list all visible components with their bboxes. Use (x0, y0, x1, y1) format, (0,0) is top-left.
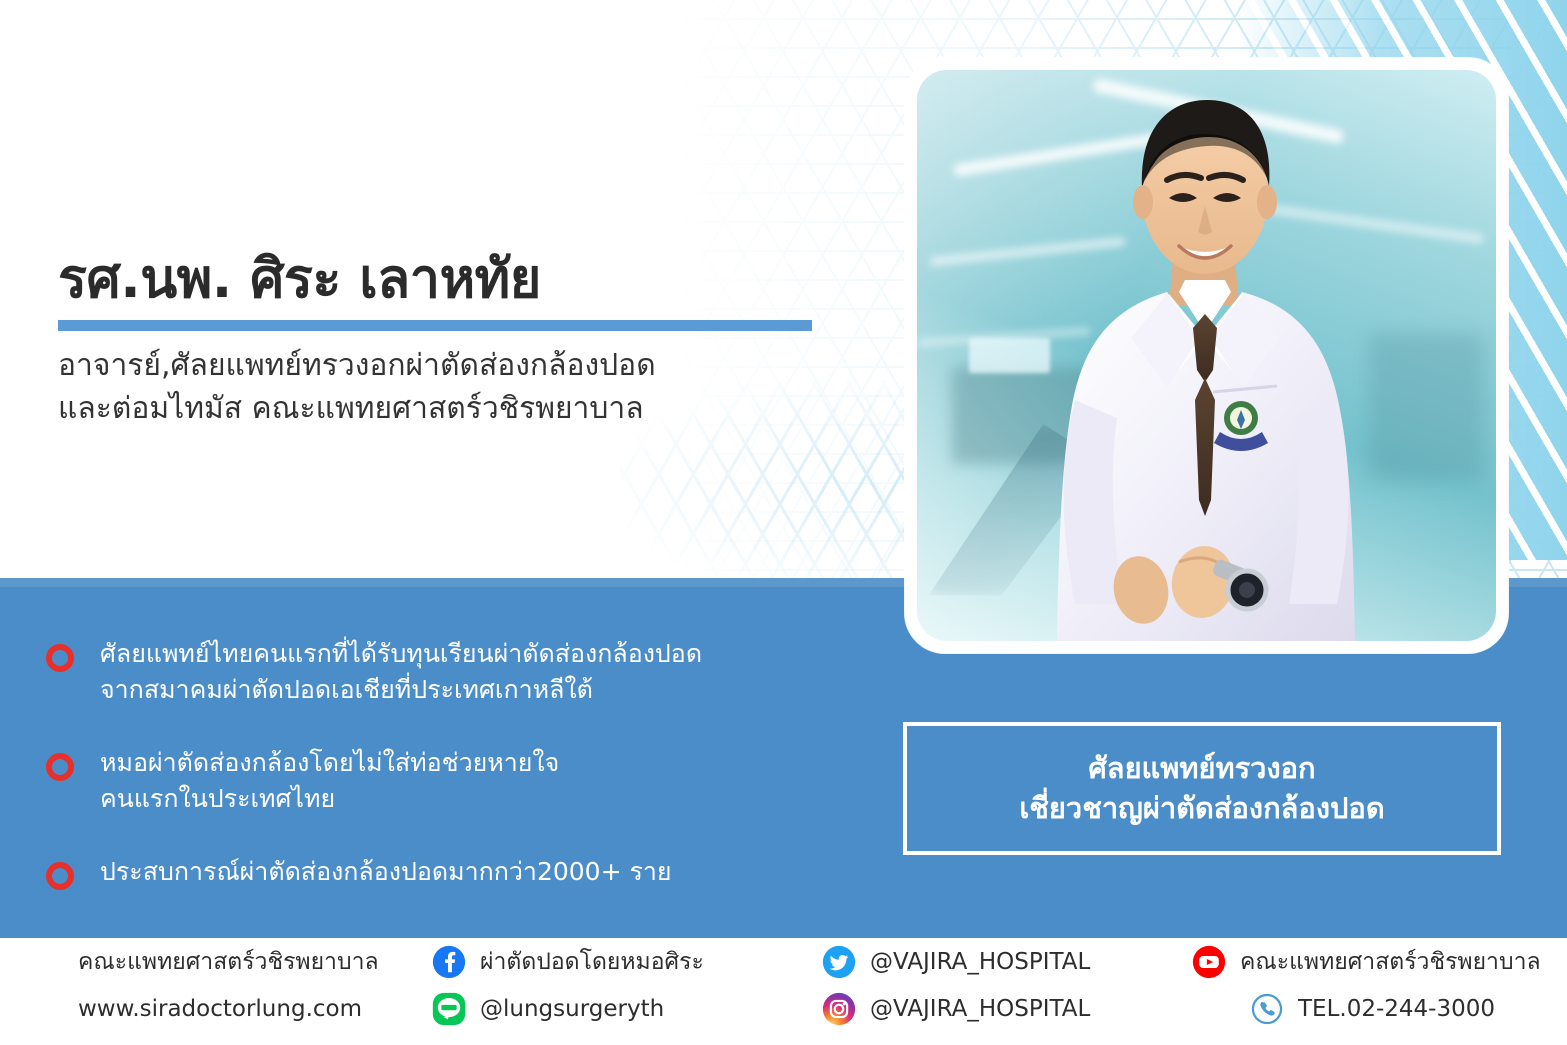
bullet-ring-icon (46, 753, 74, 781)
specialty-text: ศัลยแพทย์ทรวงอก เชี่ยวชาญผ่าตัดส่องกล้อง… (907, 726, 1497, 851)
footer-website-column: คณะแพทยศาสตร์วชิรพยาบาล www.siradoctorlu… (78, 938, 398, 1045)
specialty-line-1: ศัลยแพทย์ทรวงอก (1088, 749, 1315, 788)
doctor-name: รศ.นพ. ศิระ เลาหทัย (58, 248, 848, 310)
highlight-line: ศัลยแพทย์ไทยคนแรกที่ได้รับทุนเรียนผ่าตัด… (100, 636, 702, 672)
footer-line-label[interactable]: @lungsurgeryth (480, 996, 664, 1022)
list-item: ศัลยแพทย์ไทยคนแรกที่ได้รับทุนเรียนผ่าตัด… (46, 636, 866, 707)
doctor-role-line-1: อาจารย์,ศัลยแพทย์ทรวงอกผ่าตัดส่องกล้องปอ… (58, 345, 848, 388)
footer-twitter-label[interactable]: @VAJIRA_HOSPITAL (870, 949, 1090, 975)
twitter-icon[interactable] (822, 945, 856, 979)
footer-telephone-row[interactable]: TEL.02-244-3000 (1192, 985, 1562, 1032)
line-icon[interactable] (432, 992, 466, 1026)
specialty-badge: ศัลยแพทย์ทรวงอก เชี่ยวชาญผ่าตัดส่องกล้อง… (903, 722, 1501, 855)
phone-icon[interactable] (1250, 992, 1284, 1026)
name-underline-rule (58, 320, 812, 331)
footer-facebook-label[interactable]: ผ่าตัดปอดโดยหมอศิระ (480, 944, 704, 980)
highlight-line: คนแรกในประเทศไทย (100, 781, 559, 817)
doctor-role: อาจารย์,ศัลยแพทย์ทรวงอกผ่าตัดส่องกล้องปอ… (58, 345, 848, 430)
footer-website-label[interactable]: www.siradoctorlung.com (78, 996, 362, 1022)
bullet-ring-icon (46, 862, 74, 890)
doctor-name-block: รศ.นพ. ศิระ เลาหทัย อาจารย์,ศัลยแพทย์ทรว… (58, 248, 848, 430)
footer-instagram-row[interactable]: @VAJIRA_HOSPITAL (822, 985, 1172, 1032)
poster-canvas: รศ.นพ. ศิระ เลาหทัย อาจารย์,ศัลยแพทย์ทรว… (0, 0, 1567, 1045)
footer-facebook-column: ผ่าตัดปอดโดยหมอศิระ @lungsurgeryth (432, 938, 782, 1045)
footer-instagram-label[interactable]: @VAJIRA_HOSPITAL (870, 996, 1090, 1022)
highlight-text: ประสบการณ์ผ่าตัดส่องกล้องปอดมากกว่า2000+… (100, 854, 672, 890)
footer-contact-column: คณะแพทยศาสตร์วชิรพยาบาล TEL.02-244-3000 (1192, 938, 1562, 1045)
bullet-ring-icon (46, 644, 74, 672)
footer-facebook-row[interactable]: ผ่าตัดปอดโดยหมอศิระ (432, 938, 782, 985)
footer-twitter-row[interactable]: @VAJIRA_HOSPITAL (822, 938, 1172, 985)
doctor-photo (917, 70, 1496, 641)
list-item: ประสบการณ์ผ่าตัดส่องกล้องปอดมากกว่า2000+… (46, 854, 866, 890)
footer-social-column: @VAJIRA_HOSPITAL (822, 938, 1172, 1045)
doctor-figure (917, 70, 1496, 641)
highlight-line: จากสมาคมผ่าตัดปอดเอเชียที่ประเทศเกาหลีใต… (100, 672, 702, 708)
youtube-icon[interactable] (1192, 945, 1226, 979)
footer-website-row[interactable]: www.siradoctorlung.com (78, 985, 398, 1032)
list-item: หมอผ่าตัดส่องกล้องโดยไม่ใส่ท่อช่วยหายใจ … (46, 745, 866, 816)
highlight-line: ประสบการณ์ผ่าตัดส่องกล้องปอดมากกว่า2000+… (100, 854, 672, 890)
footer-faculty-label: คณะแพทยศาสตร์วชิรพยาบาล (78, 944, 379, 980)
doctor-role-line-2: และต่อมไทมัส คณะแพทยศาสตร์วชิรพยาบาล (58, 388, 848, 431)
highlight-text: หมอผ่าตัดส่องกล้องโดยไม่ใส่ท่อช่วยหายใจ … (100, 745, 559, 816)
footer-youtube-label[interactable]: คณะแพทยศาสตร์วชิรพยาบาล (1240, 944, 1541, 980)
facebook-icon[interactable] (432, 945, 466, 979)
instagram-icon[interactable] (822, 992, 856, 1026)
doctor-photo-card (905, 58, 1508, 653)
highlight-line: หมอผ่าตัดส่องกล้องโดยไม่ใส่ท่อช่วยหายใจ (100, 745, 559, 781)
highlight-text: ศัลยแพทย์ไทยคนแรกที่ได้รับทุนเรียนผ่าตัด… (100, 636, 702, 707)
footer-line-row[interactable]: @lungsurgeryth (432, 985, 782, 1032)
footer-youtube-row[interactable]: คณะแพทยศาสตร์วชิรพยาบาล (1192, 938, 1562, 985)
highlight-list: ศัลยแพทย์ไทยคนแรกที่ได้รับทุนเรียนผ่าตัด… (46, 636, 866, 890)
footer: คณะแพทยศาสตร์วชิรพยาบาล www.siradoctorlu… (0, 938, 1567, 1045)
footer-faculty-row: คณะแพทยศาสตร์วชิรพยาบาล (78, 938, 398, 985)
specialty-line-2: เชี่ยวชาญผ่าตัดส่องกล้องปอด (1019, 789, 1384, 828)
footer-telephone-label[interactable]: TEL.02-244-3000 (1298, 996, 1495, 1022)
